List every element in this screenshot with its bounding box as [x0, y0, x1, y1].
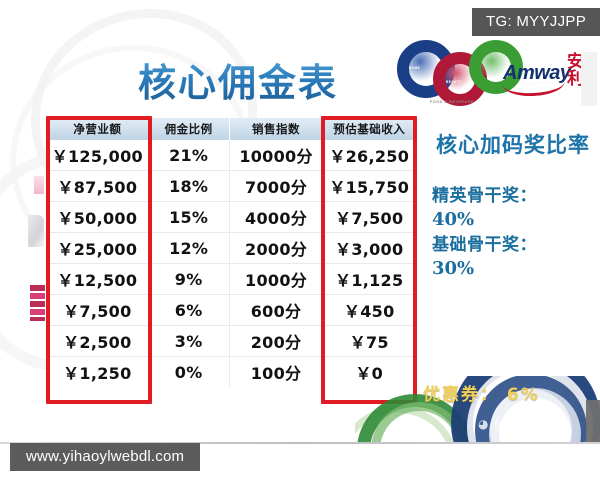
cell-sales-index: 1000分	[229, 264, 323, 295]
cell-sales-index: 7000分	[229, 171, 323, 202]
side-panel-item: 基础骨干奖： 30%	[432, 234, 598, 281]
cell-sales-index: 4000分	[229, 202, 323, 233]
cell-commission-rate: 12%	[148, 233, 229, 264]
table-header-row: 净营业额 佣金比例 销售指数 预估基础收入	[47, 118, 415, 140]
column-header-estimated-income: 预估基础收入	[323, 118, 415, 140]
cell-commission-rate: 21%	[148, 140, 229, 171]
cell-commission-rate: 6%	[148, 295, 229, 326]
cell-estimated-income: ￥1,125	[323, 264, 415, 295]
weibo-icon: ◕	[478, 417, 489, 431]
page-title: 核心佣金表	[138, 52, 338, 107]
table-row: ￥12,5009%1000分￥1,125	[47, 264, 415, 295]
side-panel-list: 精英骨干奖： 40% 基础骨干奖： 30%	[428, 185, 598, 281]
cell-net-sales: ￥87,500	[47, 171, 148, 202]
logo-ring-label-food: FOOD & BEVERAGE	[430, 100, 474, 104]
weibo-watermark: ◕ 创客小酱	[478, 414, 550, 433]
side-item-label: 精英骨干奖：	[432, 185, 598, 208]
cell-net-sales: ￥12,500	[47, 264, 148, 295]
side-panel-heading: 核心加码奖比率	[428, 132, 598, 159]
commission-table: 净营业额 佣金比例 销售指数 预估基础收入 ￥125,00021%10000分￥…	[47, 118, 415, 387]
cell-commission-rate: 9%	[148, 264, 229, 295]
arc-green-icon	[371, 402, 467, 444]
cell-sales-index: 2000分	[229, 233, 323, 264]
amway-logo: HOME BEAUTY FOOD & BEVERAGE Amway 安利	[385, 36, 590, 108]
table-row: ￥2,5003%200分￥75	[47, 326, 415, 357]
cell-estimated-income: ￥0	[323, 357, 415, 388]
coupon-label: 优惠券： 6%	[423, 380, 540, 405]
column-header-sales-index: 销售指数	[229, 118, 323, 140]
cell-sales-index: 100分	[229, 357, 323, 388]
side-panel: 核心加码奖比率 精英骨干奖： 40% 基础骨干奖： 30%	[428, 132, 598, 283]
cell-estimated-income: ￥26,250	[323, 140, 415, 171]
table-row: ￥1,2500%100分￥0	[47, 357, 415, 388]
cell-net-sales: ￥2,500	[47, 326, 148, 357]
weibo-author-name: 创客小酱	[493, 414, 549, 433]
cell-commission-rate: 15%	[148, 202, 229, 233]
right-edge-overlay	[586, 400, 600, 444]
table-row: ￥87,50018%7000分￥15,750	[47, 171, 415, 202]
cell-net-sales: ￥25,000	[47, 233, 148, 264]
arc-green-icon	[355, 406, 457, 444]
logo-swoosh-icon	[503, 81, 566, 97]
logo-crop-overlay	[581, 52, 597, 106]
table-row: ￥50,00015%4000分￥7,500	[47, 202, 415, 233]
column-header-commission-rate: 佣金比例	[148, 118, 229, 140]
cell-net-sales: ￥7,500	[47, 295, 148, 326]
cell-sales-index: 200分	[229, 326, 323, 357]
side-panel-item: 精英骨干奖： 40%	[432, 185, 598, 232]
cell-commission-rate: 3%	[148, 326, 229, 357]
side-item-label: 基础骨干奖：	[432, 234, 598, 257]
cell-estimated-income: ￥15,750	[323, 171, 415, 202]
cell-commission-rate: 0%	[148, 357, 229, 388]
cell-sales-index: 600分	[229, 295, 323, 326]
cell-net-sales: ￥1,250	[47, 357, 148, 388]
table-row: ￥125,00021%10000分￥26,250	[47, 140, 415, 171]
side-item-value: 40%	[432, 208, 598, 232]
side-item-value: 30%	[432, 257, 598, 281]
table-row: ￥7,5006%600分￥450	[47, 295, 415, 326]
table-row: ￥25,00012%2000分￥3,000	[47, 233, 415, 264]
cell-net-sales: ￥125,000	[47, 140, 148, 171]
table-body: ￥125,00021%10000分￥26,250￥87,50018%7000分￥…	[47, 140, 415, 387]
cell-sales-index: 10000分	[229, 140, 323, 171]
slide-canvas: 核心佣金表 HOME BEAUTY FOOD & BEVERAGE Amway …	[0, 0, 600, 480]
cell-estimated-income: ￥450	[323, 295, 415, 326]
logo-ring-label-beauty: BEAUTY	[446, 80, 462, 84]
decorative-shape	[30, 285, 45, 321]
decorative-shape	[34, 176, 44, 194]
logo-ring-label-home: HOME	[409, 66, 420, 70]
cell-estimated-income: ￥75	[323, 326, 415, 357]
cell-estimated-income: ￥7,500	[323, 202, 415, 233]
telegram-watermark: TG: MYYJJPP	[472, 8, 600, 36]
cell-estimated-income: ￥3,000	[323, 233, 415, 264]
site-watermark: www.yihaoylwebdl.com	[10, 443, 200, 471]
decorative-shape	[28, 215, 44, 247]
cell-net-sales: ￥50,000	[47, 202, 148, 233]
column-header-net-sales: 净营业额	[47, 118, 148, 140]
commission-table-wrapper: 净营业额 佣金比例 销售指数 预估基础收入 ￥125,00021%10000分￥…	[47, 118, 415, 387]
cell-commission-rate: 18%	[148, 171, 229, 202]
